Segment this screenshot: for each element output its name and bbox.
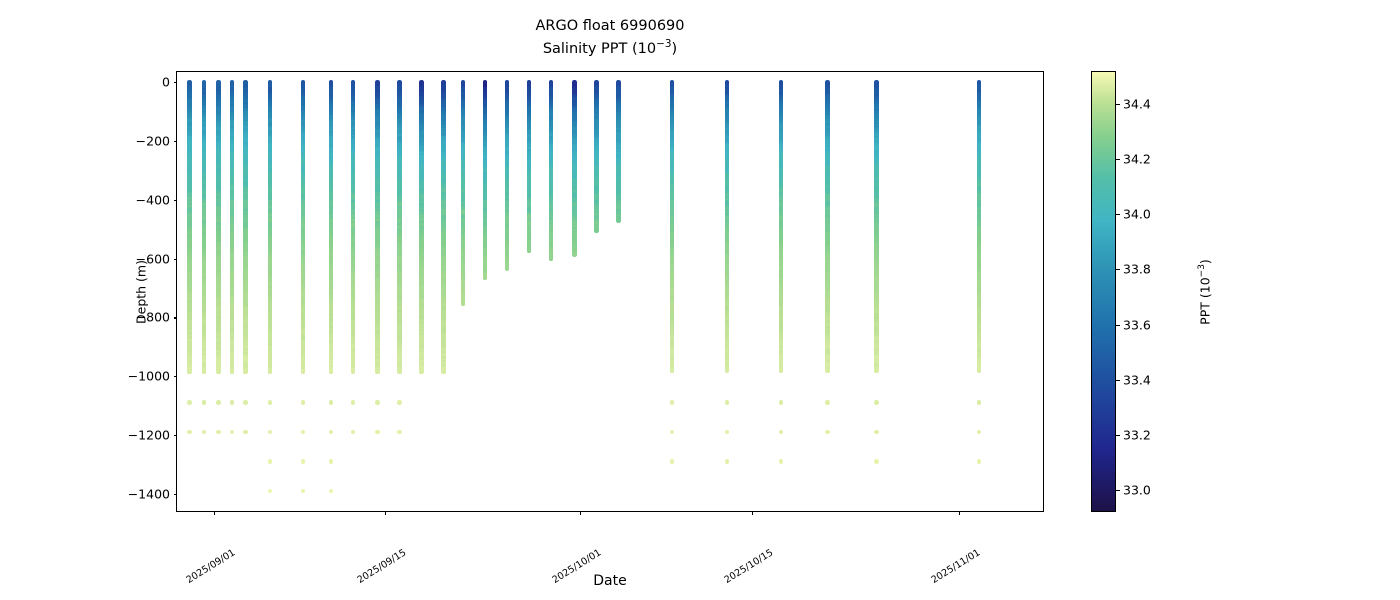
deep-sample-point <box>397 400 402 405</box>
profile-bottom-point <box>572 252 577 257</box>
title-line-1: ARGO float 6990690 <box>176 16 1044 37</box>
profile-bottom-point <box>441 370 446 375</box>
deep-sample-point <box>268 489 273 494</box>
deep-sample-point <box>202 430 207 435</box>
profile-bottom-point <box>670 369 675 374</box>
profile-bottom-point <box>243 370 248 375</box>
profile-bottom-point <box>725 369 730 374</box>
profile-bottom-point <box>505 267 510 272</box>
title-line-2-suffix: ) <box>672 41 678 57</box>
deep-sample-point <box>230 400 235 405</box>
profile-bottom-point <box>483 276 488 281</box>
profile-bottom-point <box>351 370 356 375</box>
deep-sample-point <box>230 430 235 435</box>
deep-sample-point <box>725 459 730 464</box>
profile-bottom-point <box>202 370 207 375</box>
title-line-2-exponent: −3 <box>656 38 671 50</box>
deep-sample-point <box>301 459 306 464</box>
deep-sample-point <box>397 430 402 435</box>
deep-sample-point <box>329 400 334 405</box>
deep-sample-point <box>670 459 675 464</box>
deep-sample-point <box>329 430 334 435</box>
profile-bottom-point <box>419 370 424 375</box>
profile-bottom-point <box>187 370 192 375</box>
deep-sample-point <box>187 400 192 405</box>
profile-bottom-point <box>397 370 402 375</box>
deep-sample-point <box>268 400 273 405</box>
deep-sample-point <box>670 430 675 435</box>
deep-sample-point <box>301 489 306 494</box>
deep-sample-point <box>301 430 306 435</box>
deep-sample-point <box>375 400 380 405</box>
deep-sample-point <box>725 400 730 405</box>
deep-sample-point <box>329 459 334 464</box>
deep-sample-point <box>329 489 334 494</box>
scatter-plot-area <box>177 72 1043 511</box>
profile-bottom-point <box>301 370 306 375</box>
profile-bottom-point <box>461 301 466 306</box>
profile-bottom-point <box>230 370 235 375</box>
deep-sample-point <box>351 430 356 435</box>
deep-sample-point <box>216 400 221 405</box>
deep-sample-point <box>301 400 306 405</box>
deep-sample-point <box>725 430 730 435</box>
deep-sample-point <box>216 430 221 435</box>
chart-title: ARGO float 6990690 Salinity PPT (10−3) <box>176 16 1044 60</box>
profile-bottom-point <box>268 370 273 375</box>
figure: ARGO float 6990690 Salinity PPT (10−3) D… <box>0 0 1400 600</box>
profile-bottom-point <box>527 248 532 253</box>
profile-bottom-point <box>375 370 380 375</box>
profile-bottom-point <box>329 370 334 375</box>
deep-sample-point <box>351 400 356 405</box>
deep-sample-point <box>187 430 192 435</box>
deep-sample-point <box>670 400 675 405</box>
plot-axes: Depth (m) Date 0−200−400−600−800−1000−12… <box>176 71 1044 512</box>
profile-bottom-point <box>616 218 621 223</box>
profile-bottom-point <box>594 228 599 233</box>
deep-sample-point <box>268 430 273 435</box>
deep-sample-point <box>202 400 207 405</box>
profile-bottom-point <box>549 256 554 261</box>
deep-sample-point <box>243 430 248 435</box>
profile-bottom-point <box>216 370 221 375</box>
deep-sample-point <box>268 459 273 464</box>
deep-sample-point <box>243 400 248 405</box>
deep-sample-point <box>375 430 380 435</box>
title-line-2: Salinity PPT (10−3) <box>176 37 1044 60</box>
title-line-2-prefix: Salinity PPT (10 <box>543 41 656 57</box>
